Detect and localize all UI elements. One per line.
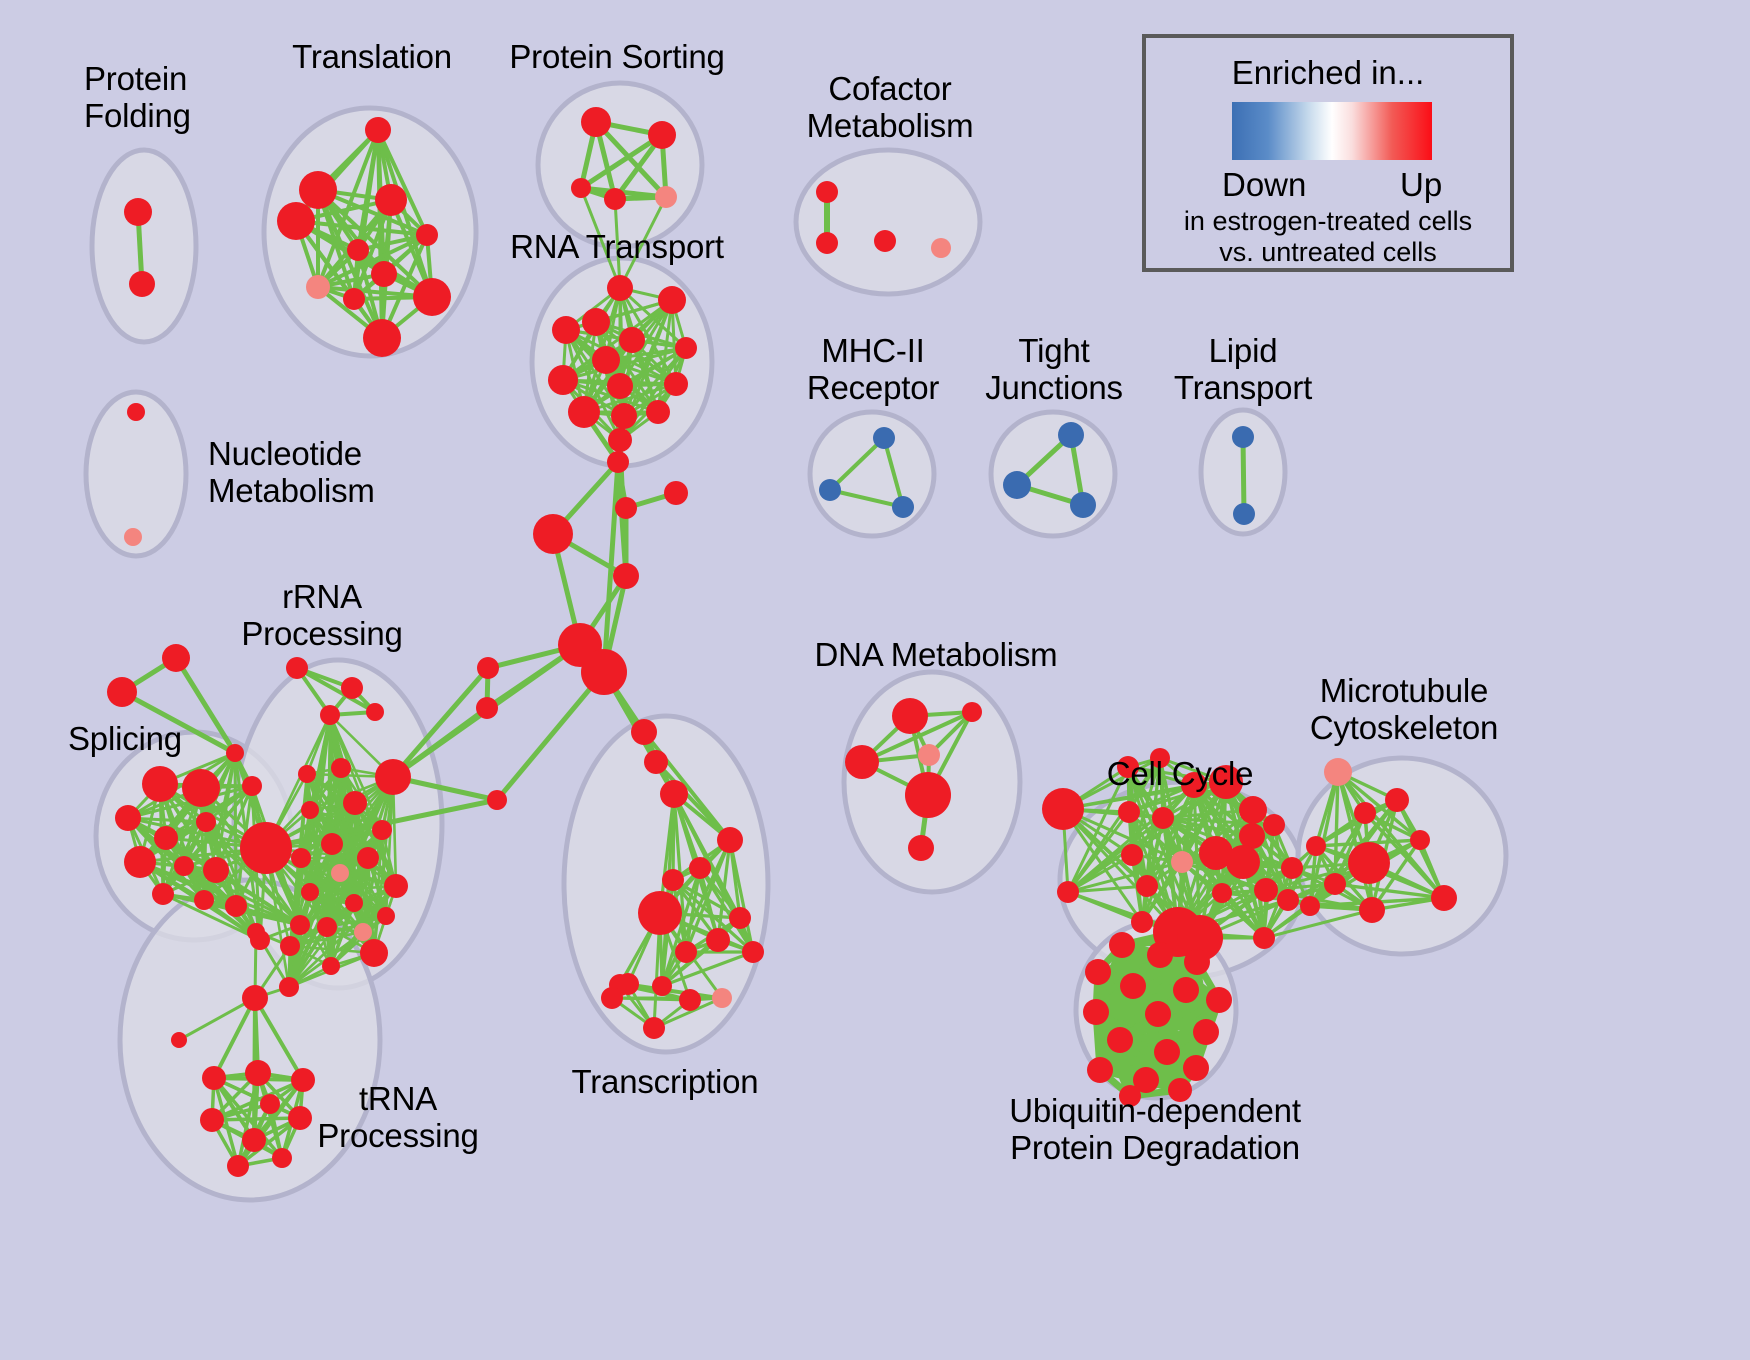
- network-node[interactable]: [1184, 949, 1210, 975]
- cluster-label-nucleotide-metabolism: NucleotideMetabolism: [208, 435, 375, 509]
- network-node[interactable]: [331, 758, 351, 778]
- cluster-label-translation: Translation: [292, 38, 452, 75]
- network-node[interactable]: [712, 988, 732, 1008]
- network-node[interactable]: [568, 396, 600, 428]
- network-node[interactable]: [675, 337, 697, 359]
- network-node[interactable]: [816, 232, 838, 254]
- network-node[interactable]: [581, 649, 627, 695]
- network-node[interactable]: [280, 936, 300, 956]
- network-node[interactable]: [477, 657, 499, 679]
- cluster-label-line: Cytoskeleton: [1310, 709, 1498, 746]
- edge: [1243, 437, 1244, 514]
- cluster-label-line: Lipid: [1174, 332, 1312, 369]
- network-node[interactable]: [1042, 788, 1084, 830]
- network-node[interactable]: [242, 776, 262, 796]
- cluster-label-line: Cell Cycle: [1107, 755, 1254, 792]
- network-node[interactable]: [127, 403, 145, 421]
- network-node[interactable]: [1118, 801, 1140, 823]
- network-node[interactable]: [638, 891, 682, 935]
- network-node[interactable]: [1300, 896, 1320, 916]
- network-node[interactable]: [200, 1108, 224, 1132]
- cluster-halo-protein-folding: [92, 150, 196, 342]
- cluster-label-tight-junctions: TightJunctions: [985, 332, 1123, 406]
- network-node[interactable]: [341, 677, 363, 699]
- network-node[interactable]: [343, 791, 367, 815]
- color-scale-bar: [1232, 102, 1432, 160]
- legend-up-label: Up: [1400, 166, 1442, 204]
- cluster-label-splicing: Splicing: [68, 720, 182, 757]
- network-node[interactable]: [1206, 987, 1232, 1013]
- network-node[interactable]: [242, 985, 268, 1011]
- network-node[interactable]: [247, 923, 265, 941]
- network-node[interactable]: [245, 1060, 271, 1086]
- network-node[interactable]: [291, 1068, 315, 1092]
- network-node[interactable]: [372, 820, 392, 840]
- network-node[interactable]: [1087, 1057, 1113, 1083]
- network-node[interactable]: [892, 698, 928, 734]
- network-node[interactable]: [874, 230, 896, 252]
- network-node[interactable]: [918, 744, 940, 766]
- network-node[interactable]: [1212, 883, 1232, 903]
- network-node[interactable]: [152, 883, 174, 905]
- network-node[interactable]: [360, 939, 388, 967]
- network-node[interactable]: [615, 497, 637, 519]
- network-node[interactable]: [1348, 842, 1390, 884]
- network-node[interactable]: [643, 1017, 665, 1039]
- network-node[interactable]: [1154, 1039, 1180, 1065]
- cluster-label-line: Transport: [1174, 369, 1312, 406]
- network-node[interactable]: [1145, 1001, 1171, 1027]
- network-node[interactable]: [607, 451, 629, 473]
- network-node[interactable]: [1263, 814, 1285, 836]
- legend-down-label: Down: [1222, 166, 1306, 204]
- network-node[interactable]: [581, 107, 611, 137]
- network-node[interactable]: [277, 202, 315, 240]
- cluster-label-protein-sorting: Protein Sorting: [509, 38, 724, 75]
- cluster-label-line: rRNA: [241, 578, 402, 615]
- network-node[interactable]: [107, 677, 137, 707]
- network-node[interactable]: [1410, 830, 1430, 850]
- network-node[interactable]: [1254, 878, 1278, 902]
- network-node[interactable]: [1121, 844, 1143, 866]
- network-node[interactable]: [331, 864, 349, 882]
- legend-subtitle: in estrogen-treated cells vs. untreated …: [1146, 206, 1510, 268]
- network-node[interactable]: [115, 805, 141, 831]
- network-node[interactable]: [655, 186, 677, 208]
- cluster-label-line: MHC-II: [807, 332, 939, 369]
- legend-title: Enriched in...: [1146, 54, 1510, 92]
- cluster-label-mhc-ii-receptor: MHC-IIReceptor: [807, 332, 939, 406]
- network-node[interactable]: [1232, 426, 1254, 448]
- network-node[interactable]: [363, 319, 401, 357]
- network-node[interactable]: [371, 261, 397, 287]
- cluster-label-line: Translation: [292, 38, 452, 75]
- network-node[interactable]: [357, 847, 379, 869]
- network-node[interactable]: [1109, 932, 1135, 958]
- network-node[interactable]: [571, 178, 591, 198]
- network-node[interactable]: [291, 848, 311, 868]
- network-node[interactable]: [905, 772, 951, 818]
- network-node[interactable]: [196, 812, 216, 832]
- network-node[interactable]: [931, 238, 951, 258]
- network-node[interactable]: [1385, 788, 1409, 812]
- cluster-label-line: Cofactor: [807, 70, 974, 107]
- network-node[interactable]: [298, 765, 316, 783]
- network-node[interactable]: [182, 769, 220, 807]
- network-node[interactable]: [1003, 471, 1031, 499]
- cluster-label-line: Nucleotide: [208, 435, 375, 472]
- network-node[interactable]: [679, 989, 701, 1011]
- network-node[interactable]: [301, 801, 319, 819]
- network-node[interactable]: [1183, 1055, 1209, 1081]
- network-node[interactable]: [1057, 881, 1079, 903]
- cluster-label-line: Processing: [241, 615, 402, 652]
- network-node[interactable]: [1070, 492, 1096, 518]
- network-node[interactable]: [375, 184, 407, 216]
- network-node[interactable]: [476, 697, 498, 719]
- network-node[interactable]: [306, 275, 330, 299]
- network-node[interactable]: [742, 941, 764, 963]
- cluster-label-line: Metabolism: [807, 107, 974, 144]
- network-node[interactable]: [908, 835, 934, 861]
- cluster-label-microtubule: MicrotubuleCytoskeleton: [1310, 672, 1498, 746]
- cluster-label-line: Tight: [985, 332, 1123, 369]
- network-node[interactable]: [1277, 889, 1299, 911]
- network-node[interactable]: [124, 528, 142, 546]
- network-node[interactable]: [487, 790, 507, 810]
- network-node[interactable]: [154, 826, 178, 850]
- network-node[interactable]: [377, 907, 395, 925]
- network-node[interactable]: [320, 705, 340, 725]
- cluster-label-line: Receptor: [807, 369, 939, 406]
- network-node[interactable]: [1083, 999, 1109, 1025]
- network-node[interactable]: [194, 890, 214, 910]
- network-node[interactable]: [1431, 885, 1457, 911]
- network-node[interactable]: [347, 239, 369, 261]
- network-node[interactable]: [607, 275, 633, 301]
- network-node[interactable]: [343, 288, 365, 310]
- cluster-label-line: Microtubule: [1310, 672, 1498, 709]
- network-node[interactable]: [1239, 796, 1267, 824]
- network-node[interactable]: [1120, 973, 1146, 999]
- network-node[interactable]: [644, 750, 668, 774]
- network-node[interactable]: [1281, 857, 1303, 879]
- cluster-halo-mhc-ii-receptor: [810, 412, 934, 536]
- network-node[interactable]: [242, 1128, 266, 1152]
- network-node[interactable]: [660, 780, 688, 808]
- cluster-label-dna-metabolism: DNA Metabolism: [815, 636, 1058, 673]
- network-node[interactable]: [631, 719, 657, 745]
- network-node[interactable]: [416, 224, 438, 246]
- network-node[interactable]: [174, 856, 194, 876]
- network-node[interactable]: [375, 759, 411, 795]
- network-node[interactable]: [286, 657, 308, 679]
- network-node[interactable]: [299, 171, 337, 209]
- network-node[interactable]: [1354, 802, 1376, 824]
- network-node[interactable]: [129, 271, 155, 297]
- cluster-label-line: Processing: [317, 1117, 478, 1154]
- network-node[interactable]: [619, 327, 645, 353]
- network-node[interactable]: [124, 198, 152, 226]
- network-node[interactable]: [227, 1155, 249, 1177]
- cluster-label-protein-folding: ProteinFolding: [84, 60, 191, 134]
- cluster-label-line: Metabolism: [208, 472, 375, 509]
- network-node[interactable]: [582, 308, 610, 336]
- network-node[interactable]: [608, 428, 632, 452]
- cluster-label-line: DNA Metabolism: [815, 636, 1058, 673]
- network-node[interactable]: [607, 373, 633, 399]
- network-node[interactable]: [226, 744, 244, 762]
- network-node[interactable]: [729, 907, 751, 929]
- network-node[interactable]: [611, 403, 637, 429]
- cluster-label-line: Ubiquitin-dependent: [1009, 1092, 1301, 1129]
- network-node[interactable]: [202, 1066, 226, 1090]
- network-node[interactable]: [1152, 807, 1174, 829]
- network-node[interactable]: [1173, 977, 1199, 1003]
- figure-canvas: ProteinFoldingTranslationProtein Sorting…: [0, 0, 1750, 1360]
- network-node[interactable]: [1171, 851, 1193, 873]
- network-node[interactable]: [354, 923, 372, 941]
- network-node[interactable]: [321, 833, 343, 855]
- network-node[interactable]: [652, 976, 672, 996]
- cluster-halo-cofactor-metabolism: [796, 150, 980, 294]
- network-node[interactable]: [962, 702, 982, 722]
- cluster-label-line: Transcription: [572, 1063, 759, 1100]
- network-node[interactable]: [613, 563, 639, 589]
- cluster-label-lipid-transport: LipidTransport: [1174, 332, 1312, 406]
- network-node[interactable]: [675, 941, 697, 963]
- cluster-label-rna-transport: RNA Transport: [510, 228, 724, 265]
- cluster-label-cell-cycle: Cell Cycle: [1107, 755, 1254, 792]
- network-node[interactable]: [203, 857, 229, 883]
- network-node[interactable]: [717, 827, 743, 853]
- cluster-label-cofactor-metabolism: CofactorMetabolism: [807, 70, 974, 144]
- network-node[interactable]: [384, 874, 408, 898]
- cluster-label-trna-processing: tRNAProcessing: [317, 1080, 478, 1154]
- network-node[interactable]: [279, 977, 299, 997]
- cluster-label-transcription: Transcription: [572, 1063, 759, 1100]
- network-node[interactable]: [664, 481, 688, 505]
- network-node[interactable]: [142, 766, 178, 802]
- cluster-label-line: RNA Transport: [510, 228, 724, 265]
- network-node[interactable]: [345, 894, 363, 912]
- network-node[interactable]: [706, 928, 730, 952]
- network-node[interactable]: [664, 372, 688, 396]
- network-node[interactable]: [816, 181, 838, 203]
- network-node[interactable]: [1253, 927, 1275, 949]
- network-node[interactable]: [1324, 873, 1346, 895]
- network-node[interactable]: [845, 745, 879, 779]
- network-node[interactable]: [1147, 942, 1173, 968]
- legend-subtitle-line1: in estrogen-treated cells: [1146, 206, 1510, 237]
- network-node[interactable]: [413, 278, 451, 316]
- network-node[interactable]: [658, 286, 686, 314]
- cluster-label-line: Splicing: [68, 720, 182, 757]
- network-node[interactable]: [240, 822, 292, 874]
- network-node[interactable]: [648, 121, 676, 149]
- network-node[interactable]: [819, 479, 841, 501]
- network-node[interactable]: [1226, 845, 1260, 879]
- network-node[interactable]: [366, 703, 384, 721]
- cluster-label-ubiquitin: Ubiquitin-dependentProtein Degradation: [1009, 1092, 1301, 1166]
- network-node[interactable]: [1306, 836, 1326, 856]
- network-node[interactable]: [288, 1106, 312, 1130]
- cluster-label-rrna-processing: rRNAProcessing: [241, 578, 402, 652]
- network-node[interactable]: [552, 316, 580, 344]
- cluster-label-line: Protein: [84, 60, 191, 97]
- network-node[interactable]: [1131, 911, 1153, 933]
- network-node[interactable]: [260, 1094, 280, 1114]
- network-node[interactable]: [533, 514, 573, 554]
- network-node[interactable]: [1359, 897, 1385, 923]
- network-node[interactable]: [1058, 422, 1084, 448]
- network-node[interactable]: [1233, 503, 1255, 525]
- network-node[interactable]: [225, 895, 247, 917]
- network-node[interactable]: [601, 987, 623, 1009]
- network-node[interactable]: [162, 644, 190, 672]
- network-node[interactable]: [171, 1032, 187, 1048]
- network-node[interactable]: [1324, 758, 1352, 786]
- network-node[interactable]: [1085, 959, 1111, 985]
- cluster-label-line: Protein Sorting: [509, 38, 724, 75]
- cluster-halo-microtubule: [1298, 758, 1506, 954]
- network-node[interactable]: [272, 1148, 292, 1168]
- network-node[interactable]: [365, 117, 391, 143]
- network-node[interactable]: [604, 188, 626, 210]
- network-node[interactable]: [548, 365, 578, 395]
- cluster-label-line: tRNA: [317, 1080, 478, 1117]
- network-node[interactable]: [892, 496, 914, 518]
- network-node[interactable]: [662, 869, 684, 891]
- network-node[interactable]: [1193, 1019, 1219, 1045]
- edge: [235, 753, 236, 906]
- network-node[interactable]: [1136, 875, 1158, 897]
- cluster-label-line: Junctions: [985, 369, 1123, 406]
- legend-subtitle-line2: vs. untreated cells: [1146, 237, 1510, 268]
- legend-box: Enriched in... Down Up in estrogen-treat…: [1142, 34, 1514, 272]
- network-node[interactable]: [592, 346, 620, 374]
- cluster-label-line: Protein Degradation: [1009, 1129, 1301, 1166]
- network-node[interactable]: [301, 883, 319, 901]
- network-node[interactable]: [689, 857, 711, 879]
- network-node[interactable]: [290, 915, 310, 935]
- network-node[interactable]: [1107, 1027, 1133, 1053]
- network-node[interactable]: [873, 427, 895, 449]
- cluster-label-line: Folding: [84, 97, 191, 134]
- network-node[interactable]: [124, 846, 156, 878]
- network-node[interactable]: [317, 917, 337, 937]
- network-node[interactable]: [646, 400, 670, 424]
- network-node[interactable]: [322, 957, 340, 975]
